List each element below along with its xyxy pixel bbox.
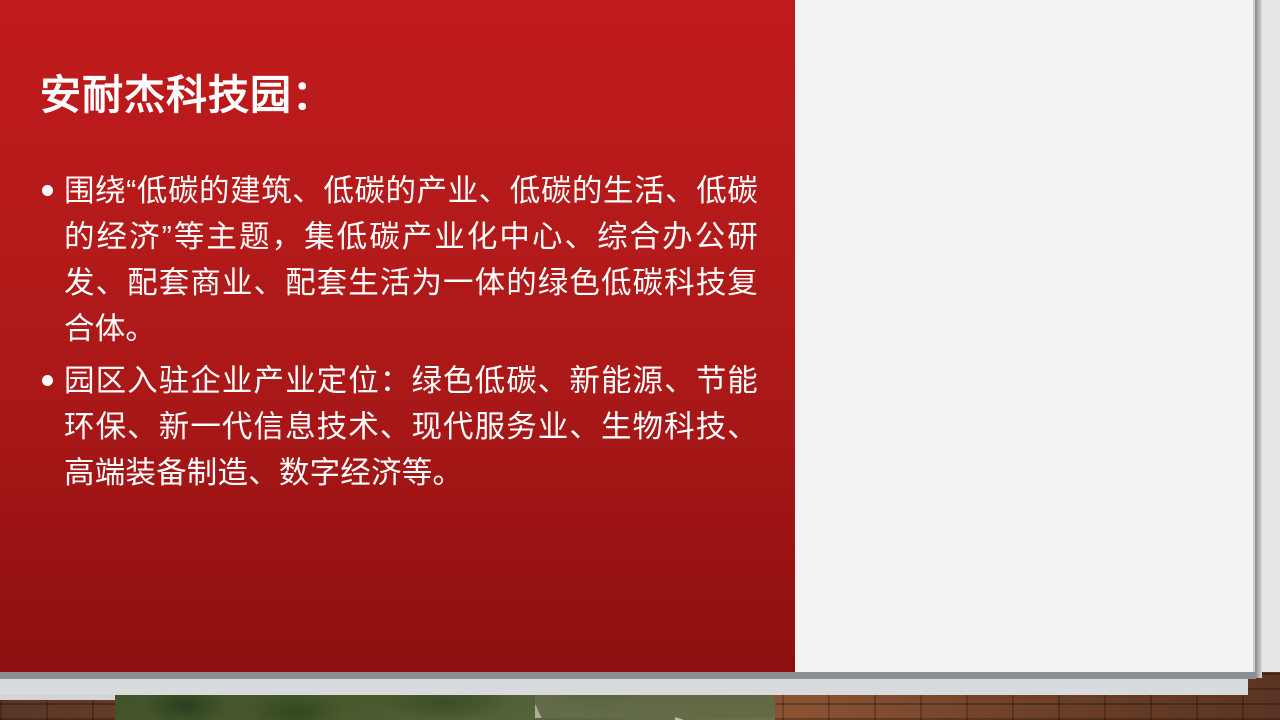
bullet-text: 园区入驻企业产业定位：绿色低碳、新能源、节能环保、新一代信息技术、现代服务业、生… (64, 364, 758, 490)
page-title: 安耐杰科技园： (40, 72, 740, 119)
bullet-text: 围绕“低碳的建筑、低碳的产业、低碳的生活、低碳的经济”等主题，集低碳产业化中心、… (64, 174, 758, 346)
red-content-panel: 安耐杰科技园： 围绕“低碳的建筑、低碳的产业、低碳的生活、低碳的经济”等主题，集… (0, 0, 795, 672)
photo-frame (795, 0, 1255, 672)
list-item: 园区入驻企业产业定位：绿色低碳、新能源、节能环保、新一代信息技术、现代服务业、生… (36, 358, 758, 496)
slide: 安耐杰科技园： 围绕“低碳的建筑、低碳的产业、低碳的生活、低碳的经济”等主题，集… (0, 0, 1280, 720)
bullet-dot-icon (42, 375, 53, 386)
list-item: 围绕“低碳的建筑、低碳的产业、低碳的生活、低碳的经济”等主题，集低碳产业化中心、… (36, 168, 758, 352)
backing-light-line (0, 679, 1248, 695)
bullet-list: 围绕“低碳的建筑、低碳的产业、低碳的生活、低碳的经济”等主题，集低碳产业化中心、… (36, 168, 758, 502)
backing-gray-line (0, 672, 1256, 679)
bullet-dot-icon (42, 185, 53, 196)
